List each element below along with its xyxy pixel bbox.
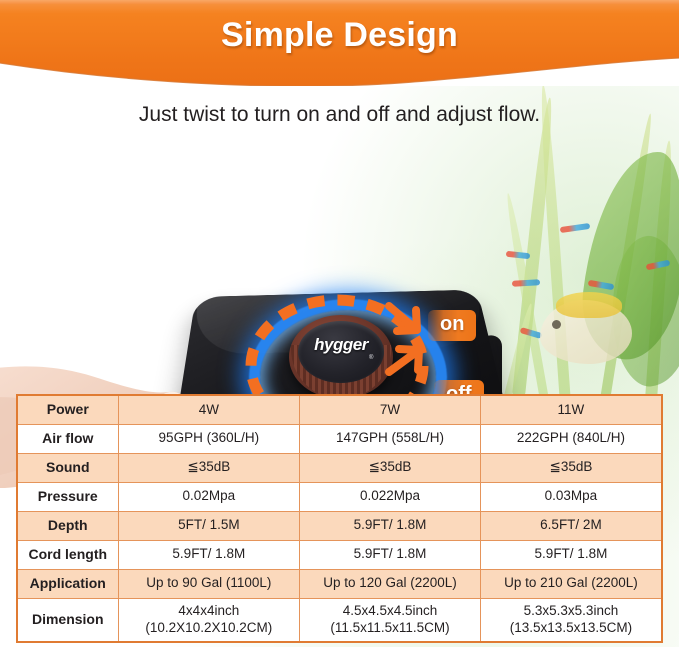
- table-row: Sound ≦35dB ≦35dB ≦35dB: [17, 453, 662, 482]
- cell-value: 5.9FT/ 1.8M: [118, 540, 300, 569]
- row-label: Depth: [17, 511, 118, 540]
- cell-value: Up to 120 Gal (2200L): [300, 569, 481, 598]
- cell-value: 0.02Mpa: [118, 482, 300, 511]
- cell-value: Up to 90 Gal (1100L): [118, 569, 300, 598]
- row-label: Cord length: [17, 540, 118, 569]
- cell-value: 0.03Mpa: [480, 482, 662, 511]
- table-row: Pressure 0.02Mpa 0.022Mpa 0.03Mpa: [17, 482, 662, 511]
- cell-value: 6.5FT/ 2M: [480, 511, 662, 540]
- dimension-cm: (13.5x13.5x13.5CM): [483, 620, 659, 636]
- row-label: Pressure: [17, 482, 118, 511]
- dimension-inch: 5.3x5.3x5.3inch: [483, 603, 659, 619]
- table-body: Power 4W 7W 11W Air flow 95GPH (360L/H) …: [17, 395, 662, 642]
- registered-mark-icon: ®: [369, 355, 373, 361]
- specification-table: Power 4W 7W 11W Air flow 95GPH (360L/H) …: [16, 394, 663, 643]
- table-row: Cord length 5.9FT/ 1.8M 5.9FT/ 1.8M 5.9F…: [17, 540, 662, 569]
- cell-value: 0.022Mpa: [300, 482, 481, 511]
- table-row: Depth 5FT/ 1.5M 5.9FT/ 1.8M 6.5FT/ 2M: [17, 511, 662, 540]
- infographic-page: Simple Design Just twist to turn on and …: [0, 0, 679, 647]
- page-title: Simple Design: [0, 16, 679, 55]
- product-image: hygger ® on off: [0, 132, 679, 394]
- table-row: Power 4W 7W 11W: [17, 395, 662, 424]
- row-label: Dimension: [17, 598, 118, 642]
- brand-logo: hygger: [298, 335, 384, 355]
- control-knob[interactable]: hygger ®: [289, 315, 393, 399]
- dimension-cm: (11.5x11.5x11.5CM): [302, 620, 478, 636]
- subtitle-text: Just twist to turn on and off and adjust…: [0, 103, 679, 127]
- cell-value: 5.9FT/ 1.8M: [300, 511, 481, 540]
- table-row: Application Up to 90 Gal (1100L) Up to 1…: [17, 569, 662, 598]
- cell-value: 4.5x4.5x4.5inch (11.5x11.5x11.5CM): [300, 598, 481, 642]
- table-row: Dimension 4x4x4inch (10.2X10.2X10.2CM) 4…: [17, 598, 662, 642]
- cell-value: ≦35dB: [480, 453, 662, 482]
- banner-wave-divider: [0, 56, 679, 86]
- dimension-cm: (10.2X10.2X10.2CM): [121, 620, 298, 636]
- cell-value: 7W: [300, 395, 481, 424]
- cell-value: 4W: [118, 395, 300, 424]
- row-label: Power: [17, 395, 118, 424]
- label-on: on: [428, 310, 476, 341]
- cell-value: 5.3x5.3x5.3inch (13.5x13.5x13.5CM): [480, 598, 662, 642]
- cell-value: 11W: [480, 395, 662, 424]
- dimension-inch: 4.5x4.5x4.5inch: [302, 603, 478, 619]
- header-banner: Simple Design: [0, 0, 679, 86]
- banner-top-highlight: [0, 0, 679, 4]
- cell-value: 95GPH (360L/H): [118, 424, 300, 453]
- cell-value: 5.9FT/ 1.8M: [300, 540, 481, 569]
- cell-value: 5FT/ 1.5M: [118, 511, 300, 540]
- cell-value: 147GPH (558L/H): [300, 424, 481, 453]
- cell-value: 5.9FT/ 1.8M: [480, 540, 662, 569]
- row-label: Sound: [17, 453, 118, 482]
- dimension-inch: 4x4x4inch: [121, 603, 298, 619]
- row-label: Application: [17, 569, 118, 598]
- table-row: Air flow 95GPH (360L/H) 147GPH (558L/H) …: [17, 424, 662, 453]
- cell-value: ≦35dB: [300, 453, 481, 482]
- row-label: Air flow: [17, 424, 118, 453]
- cell-value: Up to 210 Gal (2200L): [480, 569, 662, 598]
- cell-value: ≦35dB: [118, 453, 300, 482]
- cell-value: 4x4x4inch (10.2X10.2X10.2CM): [118, 598, 300, 642]
- cell-value: 222GPH (840L/H): [480, 424, 662, 453]
